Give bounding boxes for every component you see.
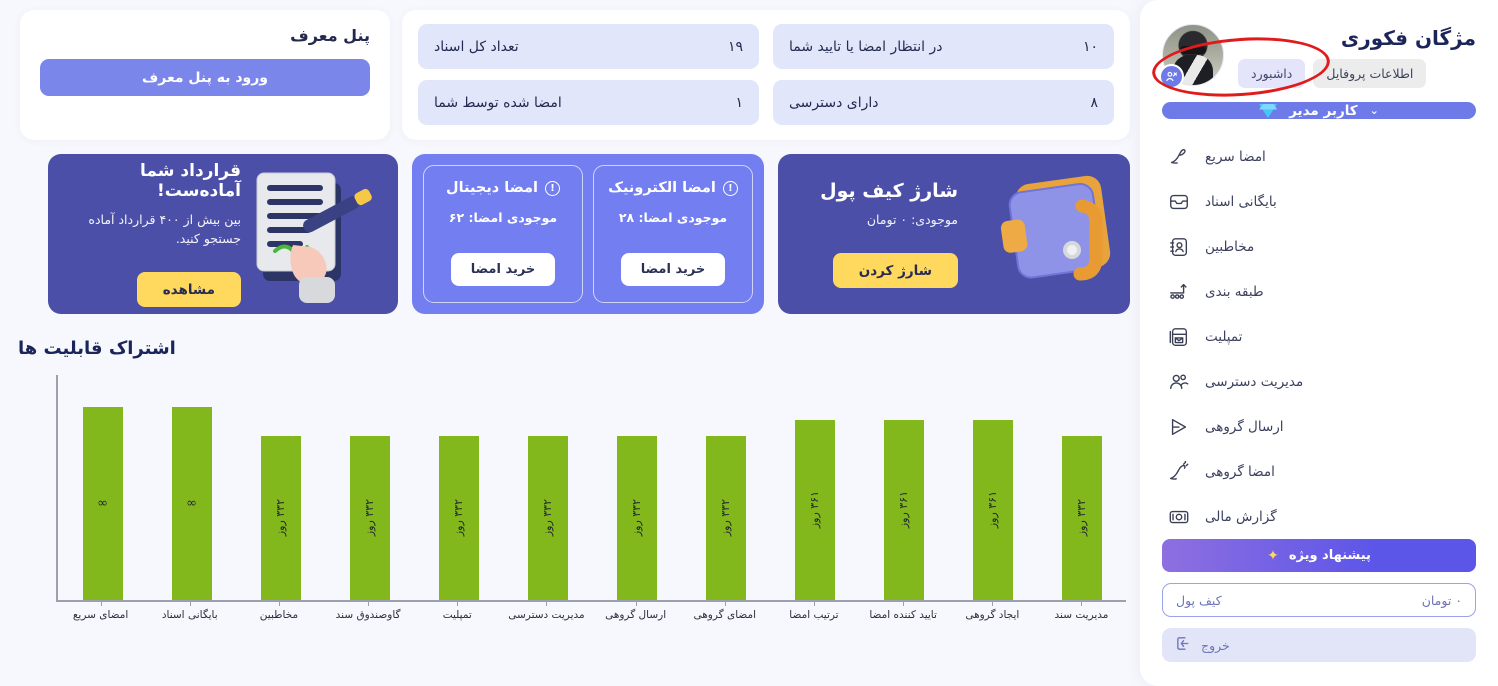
chart-bar-slot: ۳۳۲ روز	[592, 375, 681, 600]
chart-bar[interactable]: ۳۶۱ روز	[884, 420, 924, 600]
sidebar-item-9[interactable]: گزارش مالی	[1162, 495, 1476, 539]
contract-banner-title: قرارداد شما آماده‌ست!	[66, 161, 241, 201]
wallet-label: کیف پول	[1176, 593, 1222, 608]
electronic-signature-head: امضا الکترونیک !	[608, 180, 738, 196]
top-cards-row: در انتظار امضا یا تایید شما ۱۰ تعداد کل …	[0, 0, 1140, 140]
dashboard-page: در انتظار امضا یا تایید شما ۱۰ تعداد کل …	[0, 0, 1498, 686]
wallet-banner-text: شارژ کیف پول موجودی: ۰ تومان شارژ کردن	[798, 180, 958, 288]
chart-bar-value-label: ۳۳۲ روز	[541, 499, 554, 536]
referrer-panel-card: پنل معرف ورود به پنل معرف	[20, 10, 390, 140]
sidebar-item-4[interactable]: طبقه بندی	[1162, 270, 1476, 314]
banner-row: قرارداد شما آماده‌ست! بین بیش از ۴۰۰ قرا…	[0, 140, 1140, 314]
digital-signature-head: امضا دیجیتال !	[446, 180, 560, 196]
chart-bar[interactable]: ۳۳۲ روز	[439, 436, 479, 600]
chart-bar[interactable]: ∞	[172, 407, 212, 601]
special-offer-button[interactable]: ✦ پیشنهاد ویژه	[1162, 539, 1476, 572]
stat-has-access[interactable]: دارای دسترسی ۸	[773, 80, 1114, 125]
chart-bar[interactable]: ۳۳۲ روز	[528, 436, 568, 600]
sidebar-item-label: بایگانی اسناد	[1205, 194, 1277, 210]
stat-signed-by-you[interactable]: امضا شده توسط شما ۱	[418, 80, 759, 125]
info-icon[interactable]: !	[723, 181, 738, 196]
chart-x-axis-labels: امضای سریعبایگانی اسنادمخاطبینگاوصندوق س…	[56, 602, 1126, 621]
chart-bar-slot: ۳۳۲ روز	[236, 375, 325, 600]
chevron-down-icon: ⌄	[1370, 104, 1379, 117]
buy-digital-signature-button[interactable]: خرید امضا	[451, 253, 556, 286]
wallet-charge-banner: شارژ کیف پول موجودی: ۰ تومان شارژ کردن	[778, 154, 1130, 314]
user-name: مژگان فکوری	[1238, 26, 1476, 50]
chart-x-label: ایجاد گروهی	[948, 609, 1037, 621]
digital-signature-tile: امضا دیجیتال ! موجودی امضا: ۶۲ خرید امضا	[423, 165, 583, 303]
chart-bar-slot: ۳۶۱ روز	[770, 375, 859, 600]
logout-icon	[1175, 635, 1192, 655]
wallet-banner-balance: موجودی: ۰ تومان	[798, 212, 958, 227]
user-edit-icon[interactable]	[1159, 64, 1184, 89]
main-content: در انتظار امضا یا تایید شما ۱۰ تعداد کل …	[0, 0, 1140, 686]
sidebar-item-label: امضا گروهی	[1205, 464, 1275, 480]
sidebar-item-label: مدیریت دسترسی	[1205, 374, 1303, 390]
contacts-icon	[1166, 234, 1192, 260]
chart-bar-slot: ۳۳۲ روز	[1037, 375, 1126, 600]
profile-header: مژگان فکوری داشبورد اطلاعات پروفایل	[1162, 24, 1476, 88]
chart-bar[interactable]: ۳۳۲ روز	[1062, 436, 1102, 600]
chart-bar[interactable]: ۳۳۲ روز	[261, 436, 301, 600]
electronic-signature-title: امضا الکترونیک	[608, 180, 716, 196]
chart-bar[interactable]: ∞	[83, 407, 123, 601]
chart-plot-area: ∞∞۳۳۲ روز۳۳۲ روز۳۳۲ روز۳۳۲ روز۳۳۲ روز۳۳۲…	[56, 375, 1126, 600]
chart-x-label: مدیریت سند	[1037, 609, 1126, 621]
signatures-banner: امضا الکترونیک ! موجودی امضا: ۲۸ خرید ام…	[412, 154, 764, 314]
chart-bar-slot: ∞	[147, 375, 236, 600]
profile-tabs: داشبورد اطلاعات پروفایل	[1238, 59, 1476, 88]
access-management-icon	[1166, 369, 1192, 395]
sidebar-item-label: تمپلیت	[1205, 329, 1242, 345]
profile-meta: مژگان فکوری داشبورد اطلاعات پروفایل	[1238, 24, 1476, 88]
chart-bar-value-label: ۳۳۲ روز	[452, 499, 465, 536]
chart-bar-value-label: ۳۶۱ روز	[897, 491, 910, 528]
contract-banner-text: قرارداد شما آماده‌ست! بین بیش از ۴۰۰ قرا…	[66, 161, 241, 308]
sidebar-item-8[interactable]: امضا گروهی	[1162, 450, 1476, 494]
sidebar-nav: امضا سریعبایگانی اسنادمخاطبینطبقه بندیتم…	[1162, 135, 1476, 539]
chart-bar[interactable]: ۳۶۱ روز	[973, 420, 1013, 600]
digital-signature-balance: موجودی امضا: ۶۲	[449, 210, 557, 225]
info-icon[interactable]: !	[545, 181, 560, 196]
chart-bar[interactable]: ۳۳۲ روز	[617, 436, 657, 600]
stat-value: ۸	[1090, 95, 1098, 111]
stat-value: ۱	[735, 95, 743, 111]
template-icon	[1166, 324, 1192, 350]
chart-bar-value-label: ۳۳۲ روز	[274, 499, 287, 536]
wallet-banner-title: شارژ کیف پول	[798, 180, 958, 202]
referrer-panel-title: پنل معرف	[40, 26, 370, 45]
chart-x-label: تایید کننده امضا	[859, 609, 948, 621]
gem-icon	[1259, 104, 1277, 118]
logout-label: خروج	[1201, 638, 1230, 653]
chart-bar-value-label: ۳۳۲ روز	[1075, 499, 1088, 536]
buy-electronic-signature-button[interactable]: خرید امضا	[621, 253, 726, 286]
archive-icon	[1166, 189, 1192, 215]
electronic-signature-tile: امضا الکترونیک ! موجودی امضا: ۲۸ خرید ام…	[593, 165, 753, 303]
chart-bars: ∞∞۳۳۲ روز۳۳۲ روز۳۳۲ روز۳۳۲ روز۳۳۲ روز۳۳۲…	[58, 375, 1126, 600]
contract-view-button[interactable]: مشاهده	[137, 272, 241, 307]
sidebar-item-5[interactable]: تمپلیت	[1162, 315, 1476, 359]
chart-x-label: ترتیب امضا	[769, 609, 858, 621]
tab-dashboard[interactable]: داشبورد	[1238, 59, 1305, 88]
sidebar-item-3[interactable]: مخاطبین	[1162, 225, 1476, 269]
contract-signing-3d-illustration	[241, 159, 391, 309]
tab-profile-information[interactable]: اطلاعات پروفایل	[1313, 59, 1426, 88]
sidebar-item-label: طبقه بندی	[1205, 284, 1264, 300]
chart-bar-value-label: ∞	[97, 496, 108, 511]
special-offer-label: پیشنهاد ویژه	[1289, 548, 1371, 563]
sidebar-item-label: ارسال گروهی	[1205, 419, 1284, 435]
stat-total-documents[interactable]: تعداد کل اسناد ۱۹	[418, 24, 759, 69]
chart-bar-value-label: ۳۳۲ روز	[630, 499, 643, 536]
chart-x-label: بایگانی اسناد	[145, 609, 234, 621]
sidebar-item-label: گزارش مالی	[1205, 509, 1277, 525]
sparkle-icon: ✦	[1267, 548, 1279, 564]
chart-title: اشتراک قابلیت ها	[10, 338, 1130, 359]
avatar-wrapper	[1162, 24, 1224, 86]
sidebar-item-7[interactable]: ارسال گروهی	[1162, 405, 1476, 449]
electronic-signature-balance: موجودی امضا: ۲۸	[619, 210, 727, 225]
wallet-balance-button[interactable]: کیف پول ۰ تومان	[1162, 583, 1476, 617]
bulk-send-icon	[1166, 414, 1192, 440]
chart-x-label: مخاطبین	[234, 609, 323, 621]
stat-label: امضا شده توسط شما	[434, 95, 562, 111]
sidebar-item-label: مخاطبین	[1205, 239, 1254, 255]
quick-signature-icon	[1166, 144, 1192, 170]
role-selector-button[interactable]: کاربر مدیر ⌄	[1162, 102, 1476, 119]
chart-bar-slot: ∞	[58, 375, 147, 600]
stat-label: در انتظار امضا یا تایید شما	[789, 39, 942, 55]
chart-x-label: ارسال گروهی	[591, 609, 680, 621]
chart-bar-slot: ۳۳۲ روز	[503, 375, 592, 600]
sidebar-footer: ✦ پیشنهاد ویژه کیف پول ۰ تومان خروج	[1162, 539, 1476, 676]
sidebar-item-label: امضا سریع	[1205, 149, 1266, 165]
sidebar-item-2[interactable]: بایگانی اسناد	[1162, 180, 1476, 224]
chart-bar-slot: ۳۳۲ روز	[681, 375, 770, 600]
stat-value: ۱۰	[1083, 39, 1098, 55]
enter-referrer-panel-button[interactable]: ورود به پنل معرف	[40, 59, 370, 96]
stat-label: تعداد کل اسناد	[434, 39, 519, 55]
chart-x-label: امضای گروهی	[680, 609, 769, 621]
charge-wallet-button[interactable]: شارژ کردن	[833, 253, 958, 288]
bulk-signature-icon	[1166, 459, 1192, 485]
chart-x-label: تمپلیت	[413, 609, 502, 621]
chart-x-label: گاوصندوق سند	[324, 609, 413, 621]
classification-icon	[1166, 279, 1192, 305]
stat-pending[interactable]: در انتظار امضا یا تایید شما ۱۰	[773, 24, 1114, 69]
stats-card: در انتظار امضا یا تایید شما ۱۰ تعداد کل …	[402, 10, 1130, 140]
features-subscription-chart: اشتراک قابلیت ها ∞∞۳۳۲ روز۳۳۲ روز۳۳۲ روز…	[0, 314, 1140, 621]
role-label: کاربر مدیر	[1289, 103, 1357, 119]
digital-signature-title: امضا دیجیتال	[446, 180, 538, 196]
chart-bar-value-label: ۳۶۱ روز	[808, 491, 821, 528]
financial-report-icon	[1166, 504, 1192, 530]
chart-bar[interactable]: ۳۶۱ روز	[795, 420, 835, 600]
chart-bar-value-label: ۳۳۲ روز	[719, 499, 732, 536]
wallet-amount: ۰ تومان	[1422, 593, 1462, 608]
wallet-3d-illustration	[986, 164, 1126, 304]
chart-x-label: مدیریت دسترسی	[502, 609, 591, 621]
chart-bar-value-label: ۳۶۱ روز	[986, 491, 999, 528]
sidebar: مژگان فکوری داشبورد اطلاعات پروفایل کارب…	[1140, 0, 1498, 686]
contract-banner: قرارداد شما آماده‌ست! بین بیش از ۴۰۰ قرا…	[48, 154, 398, 314]
chart-bar-slot: ۳۳۲ روز	[325, 375, 414, 600]
logout-button[interactable]: خروج	[1162, 628, 1476, 662]
chart-bar-value-label: ۳۳۲ روز	[363, 499, 376, 536]
stat-label: دارای دسترسی	[789, 95, 879, 111]
chart-bar-value-label: ∞	[186, 496, 197, 511]
chart-bar-slot: ۳۶۱ روز	[859, 375, 948, 600]
chart-bar[interactable]: ۳۳۲ روز	[350, 436, 390, 600]
contract-banner-subtitle: بین بیش از ۴۰۰ قرارداد آماده جستجو کنید.	[66, 210, 241, 249]
stat-value: ۱۹	[728, 39, 743, 55]
sidebar-item-1[interactable]: امضا سریع	[1162, 135, 1476, 179]
chart-bar-slot: ۳۳۲ روز	[414, 375, 503, 600]
chart-bar[interactable]: ۳۳۲ روز	[706, 436, 746, 600]
chart-bar-slot: ۳۶۱ روز	[948, 375, 1037, 600]
sunglasses-detail	[1180, 46, 1206, 54]
sidebar-item-6[interactable]: مدیریت دسترسی	[1162, 360, 1476, 404]
chart-x-label: امضای سریع	[56, 609, 145, 621]
